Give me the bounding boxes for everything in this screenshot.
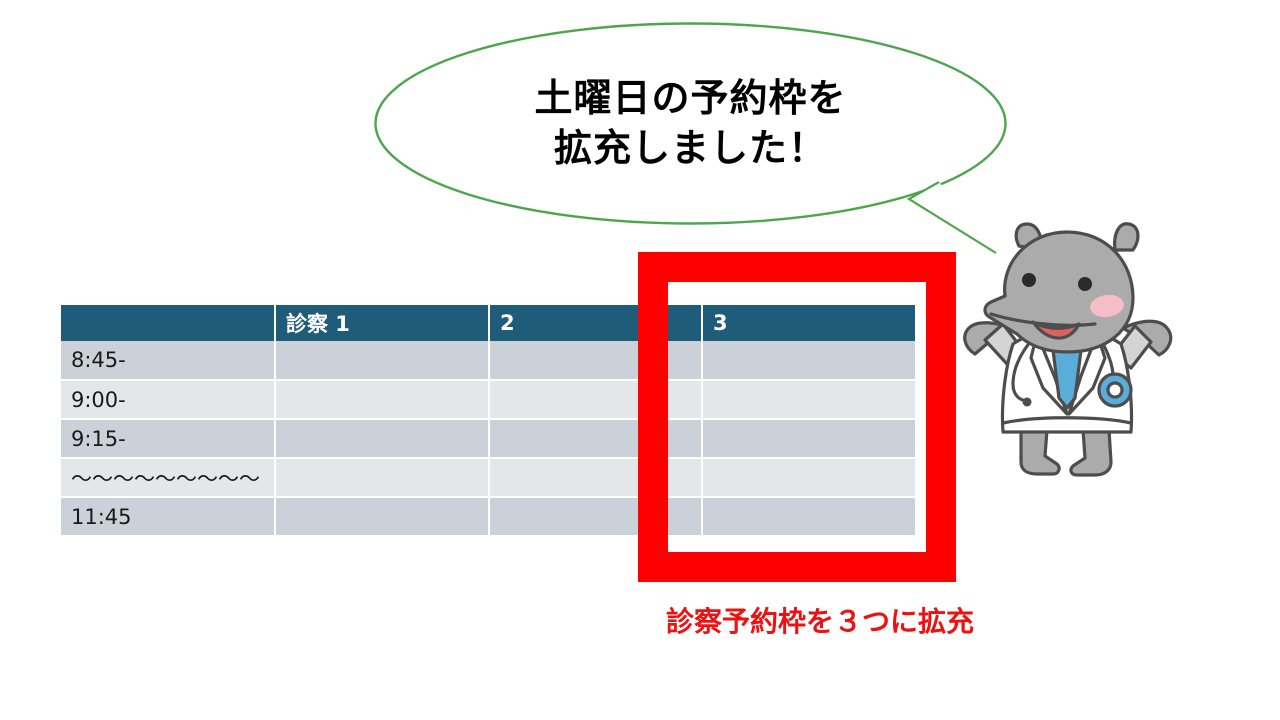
- slot-cell[interactable]: [702, 341, 915, 380]
- column-header-room-3: 3: [702, 305, 915, 341]
- reservation-schedule-table: 診察 1 2 3 8:45- 9:00- 9:15- 〜〜〜〜〜〜〜〜〜: [61, 305, 915, 537]
- table-row: 8:45-: [61, 341, 915, 380]
- column-header-time: [61, 305, 275, 341]
- speech-bubble-line-2: 拡充しました！: [554, 124, 827, 173]
- mascot-right-eye: [1078, 277, 1092, 291]
- doctor-rhino-mascot: [955, 218, 1180, 483]
- slot-cell[interactable]: [489, 380, 702, 419]
- table-row: 11:45: [61, 497, 915, 536]
- row-time-label: 8:45-: [61, 341, 275, 380]
- mascot-right-leg: [1071, 430, 1111, 475]
- slot-cell[interactable]: [275, 380, 489, 419]
- table-body: 8:45- 9:00- 9:15- 〜〜〜〜〜〜〜〜〜 11:45: [61, 341, 915, 536]
- doctor-rhino-mascot-illustration: [955, 218, 1180, 483]
- slot-cell[interactable]: [489, 458, 702, 497]
- speech-bubble: 土曜日の予約枠を 拡充しました！: [374, 22, 1007, 225]
- row-time-label: 9:00-: [61, 380, 275, 419]
- mascot-left-leg: [1021, 430, 1059, 474]
- highlight-caption: 診察予約枠を３つに拡充: [630, 600, 1010, 640]
- slot-cell[interactable]: [702, 380, 915, 419]
- slot-cell[interactable]: [702, 497, 915, 536]
- table-header-row: 診察 1 2 3: [61, 305, 915, 341]
- slot-cell[interactable]: [489, 497, 702, 536]
- column-header-room-1: 診察 1: [275, 305, 489, 341]
- slot-cell[interactable]: [702, 458, 915, 497]
- slot-cell[interactable]: [275, 497, 489, 536]
- row-time-label: 11:45: [61, 497, 275, 536]
- slot-cell[interactable]: [489, 341, 702, 380]
- slot-cell[interactable]: [489, 419, 702, 458]
- slot-cell[interactable]: [275, 341, 489, 380]
- table-row: 9:15-: [61, 419, 915, 458]
- slot-cell[interactable]: [702, 419, 915, 458]
- speech-bubble-text: 土曜日の予約枠を 拡充しました！: [374, 22, 1007, 225]
- slot-cell[interactable]: [275, 458, 489, 497]
- mascot-left-eye: [1022, 273, 1036, 287]
- mascot-stethoscope-earpiece: [1023, 398, 1032, 407]
- speech-bubble-line-1: 土曜日の予約枠を: [534, 74, 846, 123]
- table-header: 診察 1 2 3: [61, 305, 915, 341]
- row-time-label: 9:15-: [61, 419, 275, 458]
- mascot-stethoscope-chestpiece-inner: [1108, 383, 1122, 397]
- slot-cell[interactable]: [275, 419, 489, 458]
- column-header-room-2: 2: [489, 305, 702, 341]
- mascot-right-horn: [1115, 224, 1138, 250]
- row-time-label: 〜〜〜〜〜〜〜〜〜: [61, 458, 275, 497]
- table-row: 〜〜〜〜〜〜〜〜〜: [61, 458, 915, 497]
- table-row: 9:00-: [61, 380, 915, 419]
